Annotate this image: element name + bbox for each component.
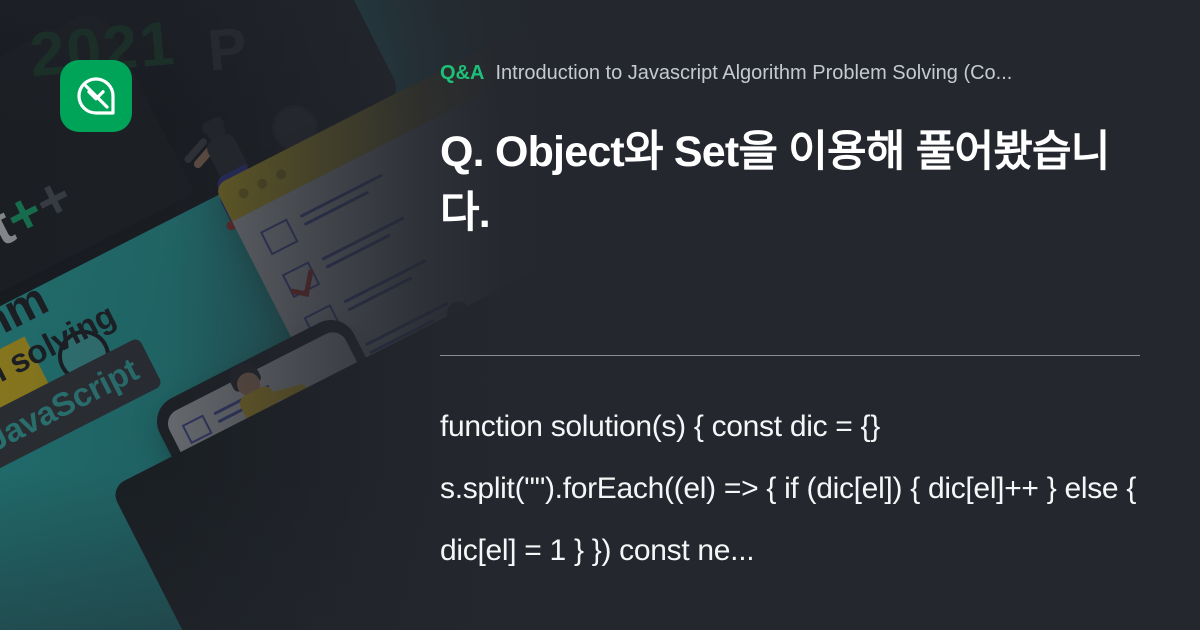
inflearn-leaf-icon bbox=[74, 74, 118, 118]
browser-dot bbox=[256, 177, 269, 190]
post-excerpt: function solution(s) { const dic = {} s.… bbox=[440, 396, 1145, 582]
thumbnail-p-label: P bbox=[205, 14, 249, 84]
inflearn-logo[interactable] bbox=[60, 60, 132, 132]
checkbox-checked-icon bbox=[282, 261, 321, 298]
page-title: Q. Object와 Set을 이용해 풀어봤습니다. bbox=[440, 122, 1130, 244]
divider bbox=[440, 355, 1140, 356]
browser-dot bbox=[274, 168, 287, 181]
breadcrumb: Q&A Introduction to Javascript Algorithm… bbox=[440, 62, 1140, 85]
checkbox-empty-icon bbox=[260, 219, 299, 256]
checklist-text-lines bbox=[298, 171, 390, 231]
card-content: Q&A Introduction to Javascript Algorithm… bbox=[440, 0, 1140, 630]
browser-dot bbox=[237, 187, 250, 200]
course-name-label: Introduction to Javascript Algorithm Pro… bbox=[495, 62, 1012, 85]
status-badge: Q&A bbox=[440, 62, 484, 85]
og-card: 2021 P t++ bbox=[0, 0, 1200, 630]
